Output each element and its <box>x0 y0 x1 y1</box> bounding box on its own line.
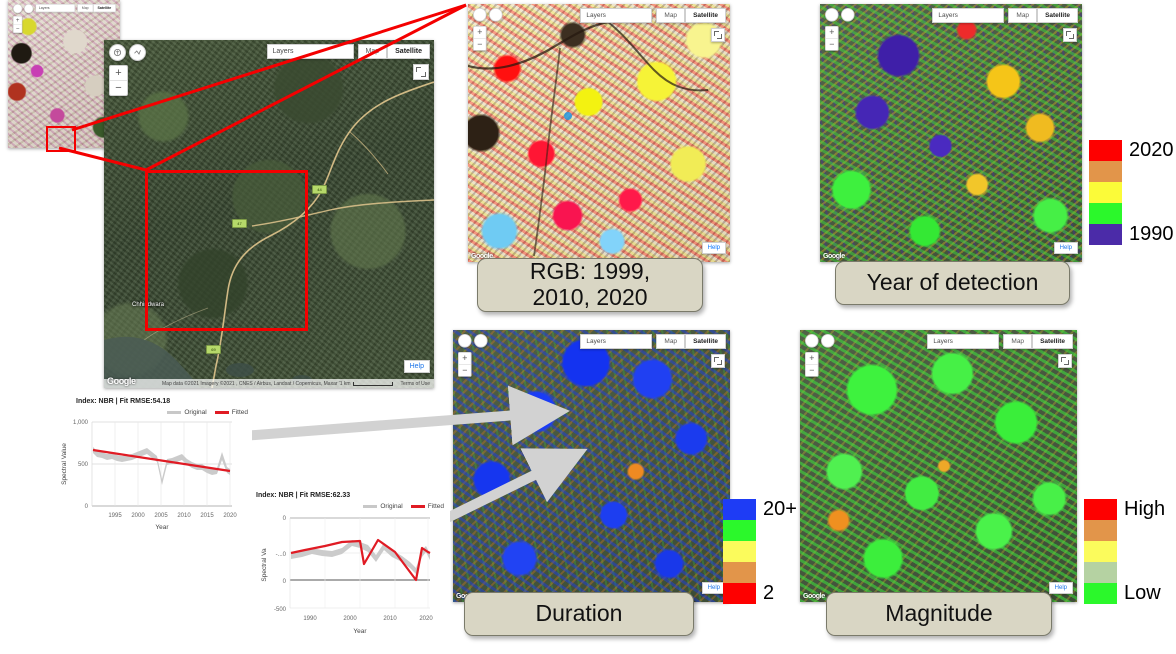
zoom-in-button[interactable]: + <box>110 66 127 80</box>
zoom-in-button[interactable]: + <box>14 17 22 25</box>
duration-map-controls[interactable] <box>458 334 488 348</box>
chart-bottom-plot: 0 -...0 0 -500 1990 2000 2010 2020 Year … <box>250 490 450 640</box>
scale-label: 1 km <box>340 381 351 387</box>
caption-year-of-detection: Year of detection <box>835 261 1070 305</box>
polygon-glyph <box>133 48 142 57</box>
legend-row <box>1084 562 1165 583</box>
legend-swatch <box>723 583 756 604</box>
xtick-1995: 1995 <box>108 513 122 519</box>
layers-button[interactable]: Layers <box>580 334 652 349</box>
legend-row <box>723 562 797 583</box>
zoom-in-button[interactable]: + <box>806 353 818 364</box>
thumb-map-topright[interactable]: Layers Map Satellite <box>36 4 116 12</box>
map-type-toggle[interactable]: Map Satellite <box>656 334 726 349</box>
layers-button[interactable]: Layers <box>932 8 1004 23</box>
draw-polygon-icon[interactable] <box>129 44 146 61</box>
chart-top-xlabel: Year <box>155 524 169 531</box>
legend-row: High <box>1084 499 1165 520</box>
legend-row <box>1084 541 1165 562</box>
map-attribution-bar: Map data ©2021 Imagery ©2021 , CNES / Ai… <box>104 379 434 388</box>
zoom-out-button[interactable]: − <box>14 24 22 32</box>
zoom-out-button[interactable]: − <box>826 38 838 50</box>
pan-hand-icon[interactable] <box>805 334 819 348</box>
fullscreen-icon[interactable] <box>711 28 725 42</box>
chart-top-ylabel: Spectral Value <box>61 443 68 485</box>
legend-swatch <box>1084 562 1117 583</box>
rgb-zoom-controls[interactable]: + − <box>473 26 487 51</box>
map-type-map[interactable]: Map <box>1003 334 1032 349</box>
legend-swatch <box>1089 140 1122 161</box>
map-type-satellite[interactable]: Satellite <box>685 334 726 349</box>
spectral-trajectory-chart-bottom: Index: NBR | Fit RMSE:62.33 Original Fit… <box>250 490 450 640</box>
year-map-topright[interactable]: Layers Map Satellite <box>932 8 1078 23</box>
zoom-in-button[interactable]: + <box>459 353 471 364</box>
google-logo: Google <box>803 593 825 600</box>
chart-top-title: Index: NBR | Fit RMSE:54.18 <box>76 398 170 405</box>
area-of-interest-box <box>145 170 308 331</box>
legend-top-label: 20+ <box>763 498 797 521</box>
fullscreen-icon[interactable] <box>1058 354 1072 368</box>
legend-swatch <box>1089 224 1122 245</box>
caption-rgb: RGB: 1999, 2010, 2020 <box>477 258 703 312</box>
ytick-mid: -...0 <box>276 552 287 558</box>
xtick-2010: 2010 <box>177 513 191 519</box>
road-shield-3: 69 <box>206 345 221 354</box>
map-type-satellite[interactable]: Satellite <box>1032 334 1073 349</box>
legend-swatch <box>723 520 756 541</box>
legend-entry-original: Original <box>363 503 402 510</box>
layers-button[interactable]: Layers <box>927 334 999 349</box>
legend-bottom-label: Low <box>1124 582 1161 605</box>
rgb-composite-map[interactable]: + − Layers Map Satellite Help Google <box>468 4 730 262</box>
fullscreen-icon[interactable] <box>1063 28 1077 42</box>
rgb-map-topright[interactable]: Layers Map Satellite <box>580 8 726 23</box>
legend-row <box>723 520 797 541</box>
pan-hand-icon[interactable] <box>458 334 472 348</box>
legend-row <box>1089 161 1174 182</box>
attribution-text: Map data ©2021 Imagery ©2021 , CNES / Ai… <box>104 381 340 387</box>
legend-entry-fitted: Fitted <box>215 409 248 416</box>
legend-swatch <box>1084 541 1117 562</box>
ytick-0: 0 <box>85 504 89 510</box>
year-map-controls[interactable] <box>825 8 855 22</box>
legend-row: 2020 <box>1089 140 1174 161</box>
legend-row: 2 <box>723 583 797 604</box>
pan-hand-icon[interactable] <box>473 8 487 22</box>
map-type-toggle[interactable]: Map Satellite <box>78 4 116 12</box>
help-button[interactable]: Help <box>702 242 726 254</box>
terms-of-use-link[interactable]: Terms of Use <box>397 381 434 387</box>
ytick-1000: 1,000 <box>73 420 89 426</box>
legend-swatch <box>1089 161 1122 182</box>
ytick-0-top: 0 <box>283 516 287 522</box>
xtick-2015: 2015 <box>200 513 214 519</box>
xtick-2000: 2000 <box>343 616 357 622</box>
pan-hand-icon[interactable] <box>13 4 22 13</box>
legend-swatch <box>723 541 756 562</box>
draw-polygon-icon[interactable] <box>841 8 855 22</box>
caption-rgb-line2: 2010, 2020 <box>532 285 647 311</box>
map-type-map[interactable]: Map <box>358 44 388 59</box>
map-type-toggle[interactable]: Map Satellite <box>656 8 726 23</box>
legend-swatch <box>1089 203 1122 224</box>
map-type-toggle[interactable]: Map Satellite <box>1003 334 1073 349</box>
zoom-in-button[interactable]: + <box>474 27 486 38</box>
legend-swatch <box>723 499 756 520</box>
year-zoom-controls[interactable]: + − <box>825 26 839 51</box>
legend-row <box>1089 182 1174 203</box>
legend-row: 20+ <box>723 499 797 520</box>
google-logo: Google <box>823 253 845 260</box>
pan-hand-icon[interactable] <box>825 8 839 22</box>
map-type-satellite[interactable]: Satellite <box>387 44 430 59</box>
chart-bottom-legend: Original Fitted <box>363 503 444 510</box>
magnitude-zoom-controls[interactable]: + − <box>805 352 819 377</box>
duration-map[interactable]: + − Layers Map Satellite Help Google <box>453 330 730 602</box>
draw-polygon-icon[interactable] <box>821 334 835 348</box>
map-type-map[interactable]: Map <box>656 334 685 349</box>
caption-duration: Duration <box>464 592 694 636</box>
year-of-detection-map[interactable]: + − Layers Map Satellite Help Google <box>820 4 1082 262</box>
zoom-in-button[interactable]: + <box>826 27 838 38</box>
legend-magnitude: High Low <box>1084 499 1165 604</box>
legend-bottom-label: 1990 <box>1129 223 1174 246</box>
main-map-controls[interactable] <box>109 44 146 61</box>
legend-duration: 20+ 2 <box>723 499 797 604</box>
legend-swatch <box>1084 499 1117 520</box>
layers-button[interactable]: Layers <box>580 8 652 23</box>
map-type-satellite[interactable]: Satellite <box>1037 8 1078 23</box>
hand-glyph <box>113 48 122 57</box>
layers-button[interactable]: Layers <box>267 44 354 59</box>
draw-polygon-icon[interactable] <box>24 4 33 13</box>
thumb-zoom-controls[interactable]: + − <box>13 16 22 33</box>
xtick-2010: 2010 <box>383 616 397 622</box>
zoom-out-button[interactable]: − <box>474 38 486 50</box>
rgb-dark-lineaments <box>468 4 730 262</box>
zoom-out-button[interactable]: − <box>459 364 471 376</box>
map-type-satellite[interactable]: Satellite <box>685 8 726 23</box>
map-type-toggle[interactable]: Map Satellite <box>358 44 430 59</box>
caption-rgb-line1: RGB: 1999, <box>530 259 650 285</box>
zoom-out-button[interactable]: − <box>110 80 127 95</box>
legend-swatch <box>1084 583 1117 604</box>
map-type-map[interactable]: Map <box>1008 8 1037 23</box>
scale-bar-line <box>353 382 393 386</box>
xtick-1990: 1990 <box>303 616 317 622</box>
legend-row <box>1084 520 1165 541</box>
help-button[interactable]: Help <box>1049 582 1073 594</box>
help-button[interactable]: Help <box>1054 242 1078 254</box>
legend-row <box>1089 203 1174 224</box>
draw-polygon-icon[interactable] <box>489 8 503 22</box>
thumbnail-locator-box <box>46 126 76 152</box>
chart-top-legend: Original Fitted <box>167 409 248 416</box>
chart-top-plot: 1,000 500 0 1995 2000 2005 2010 2015 202… <box>52 396 252 532</box>
legend-bottom-label: 2 <box>763 582 774 605</box>
magnitude-map-topright[interactable]: Layers Map Satellite <box>927 334 1073 349</box>
legend-swatch <box>723 562 756 583</box>
help-button[interactable]: Help <box>404 360 430 373</box>
legend-row: 1990 <box>1089 224 1174 245</box>
main-map-topright[interactable]: Layers Map Satellite <box>267 44 430 59</box>
ytick-minus500: -500 <box>274 607 287 613</box>
duration-map-topright[interactable]: Layers Map Satellite <box>580 334 726 349</box>
chart-bottom-ylabel: Spectral Va <box>261 548 268 582</box>
fullscreen-icon[interactable] <box>711 354 725 368</box>
caption-magnitude: Magnitude <box>826 592 1052 636</box>
spectral-trajectory-chart-top: Index: NBR | Fit RMSE:54.18 Original Fit… <box>52 396 252 532</box>
magnitude-map-controls[interactable] <box>805 334 835 348</box>
ytick-500: 500 <box>78 462 89 468</box>
xtick-2020: 2020 <box>419 616 433 622</box>
layers-button[interactable]: Layers <box>36 4 76 12</box>
xtick-2005: 2005 <box>154 513 168 519</box>
legend-row: Low <box>1084 583 1165 604</box>
road-shield-1: 44 <box>312 185 327 194</box>
legend-row <box>723 541 797 562</box>
xtick-2020: 2020 <box>223 513 237 519</box>
zoom-out-button[interactable]: − <box>806 364 818 376</box>
map-type-map[interactable]: Map <box>656 8 685 23</box>
chart-bottom-xlabel: Year <box>353 628 367 635</box>
pan-hand-icon[interactable] <box>109 44 126 61</box>
rgb-map-controls[interactable] <box>473 8 503 22</box>
magnitude-map[interactable]: + − Layers Map Satellite Help Google <box>800 330 1077 602</box>
legend-top-label: 2020 <box>1129 139 1174 162</box>
fullscreen-icon[interactable] <box>413 64 429 80</box>
draw-polygon-icon[interactable] <box>474 334 488 348</box>
legend-top-label: High <box>1124 498 1165 521</box>
duration-zoom-controls[interactable]: + − <box>458 352 472 377</box>
legend-swatch <box>1084 520 1117 541</box>
google-logo: Google <box>107 376 136 386</box>
ytick-zero: 0 <box>283 579 287 585</box>
xtick-2000: 2000 <box>131 513 145 519</box>
legend-swatch <box>1089 182 1122 203</box>
legend-year-of-detection: 2020 1990 <box>1089 140 1174 245</box>
legend-entry-original: Original <box>167 409 206 416</box>
chart-bottom-title: Index: NBR | Fit RMSE:62.33 <box>256 492 350 499</box>
legend-entry-fitted: Fitted <box>411 503 444 510</box>
map-type-toggle[interactable]: Map Satellite <box>1008 8 1078 23</box>
map-type-satellite[interactable]: Satellite <box>93 4 116 12</box>
scale-bar: 1 km <box>340 381 397 387</box>
main-zoom-controls[interactable]: + − <box>109 65 128 96</box>
thumb-map-controls[interactable] <box>13 4 33 13</box>
map-type-map[interactable]: Map <box>78 4 94 12</box>
